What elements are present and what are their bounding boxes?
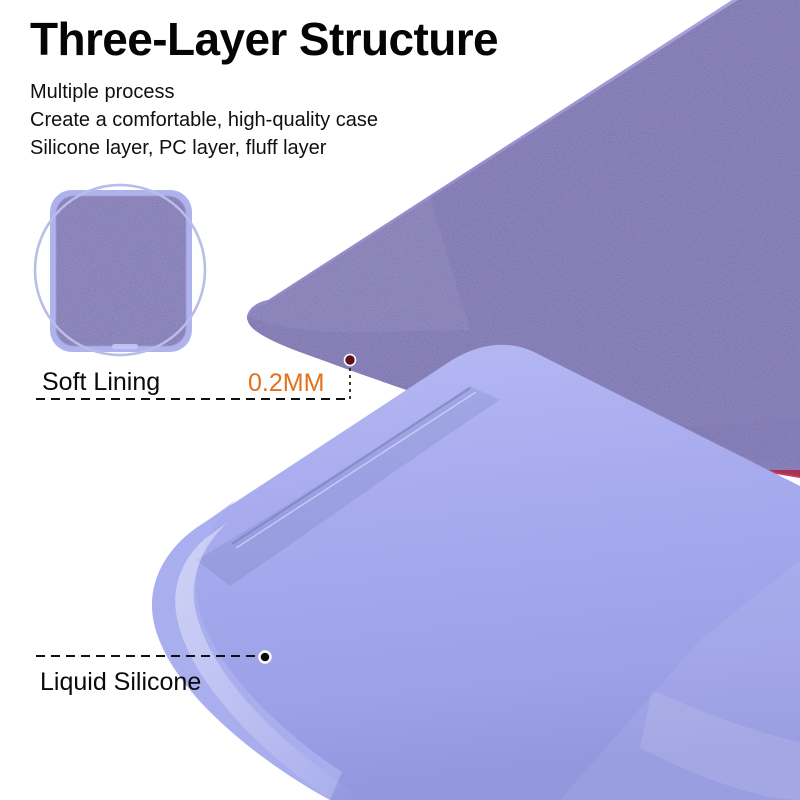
subtitle-line-1: Multiple process [30,82,175,102]
page-title: Three-Layer Structure [30,16,498,62]
thickness-marker-dot [345,355,356,366]
liquid-silicone-marker-dot [260,652,271,663]
soft-lining-label: Soft Lining [42,370,160,395]
liquid-silicone-label: Liquid Silicone [40,670,201,695]
soft-lining-inset [35,140,205,355]
thickness-label: 0.2MM [248,371,324,396]
product-infographic: Three-Layer Structure Multiple process C… [0,0,800,800]
subtitle-line-3: Silicone layer, PC layer, fluff layer [30,138,326,158]
subtitle-line-2: Create a comfortable, high-quality case [30,110,378,130]
